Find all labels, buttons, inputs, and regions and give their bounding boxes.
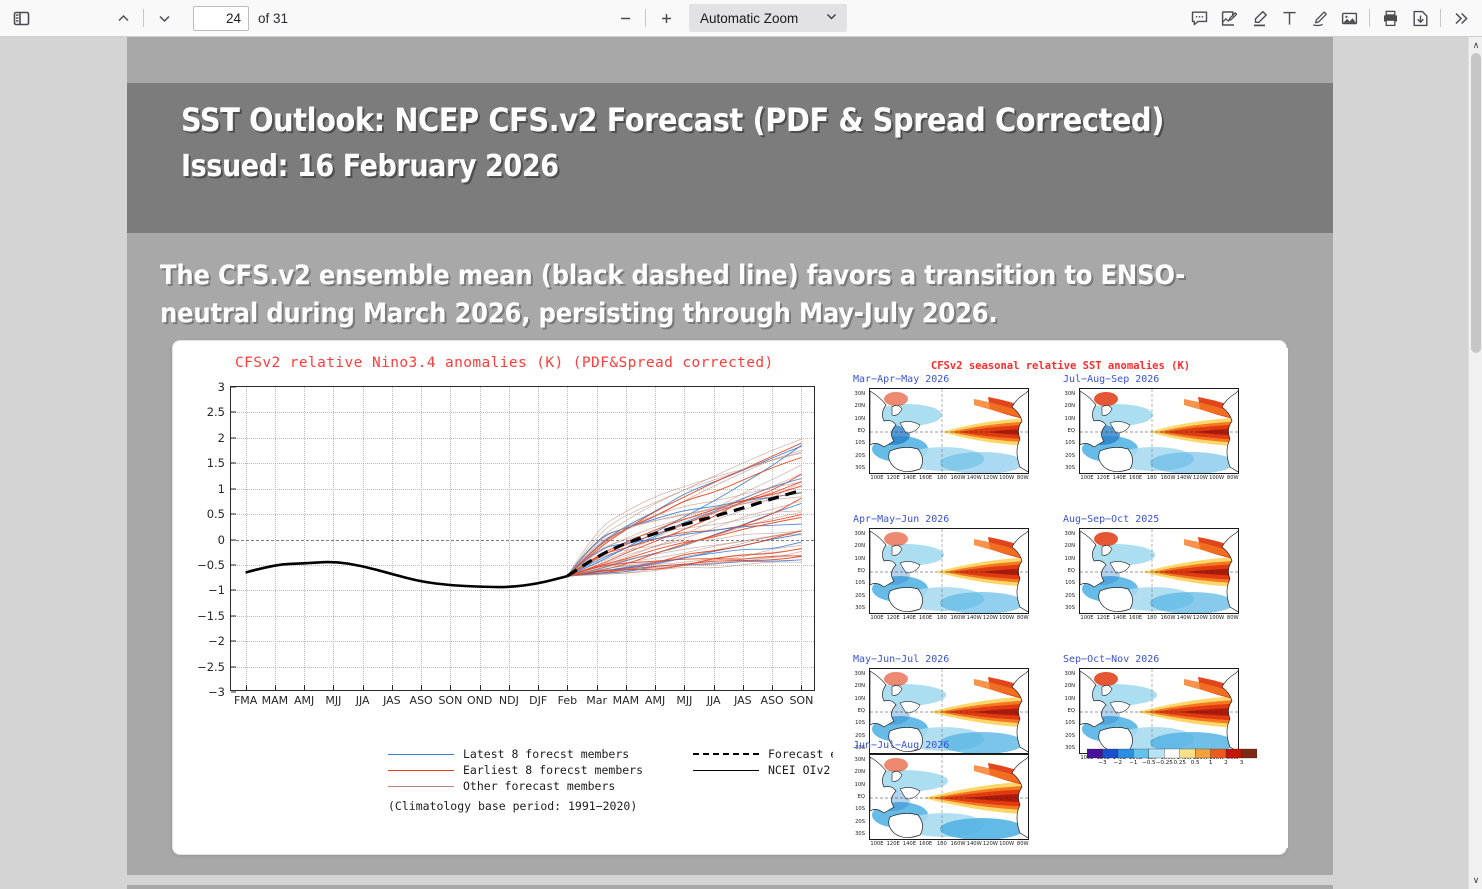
map-panel-caption: Apr−May−Jun 2026 [853, 514, 949, 525]
map-latitude-label: 10S [855, 806, 865, 812]
print-icon[interactable] [1375, 4, 1405, 32]
y-tick-label: 2.5 [207, 405, 225, 419]
x-tick-label: MAM [613, 694, 640, 707]
x-tick-label: MJJ [676, 694, 692, 707]
page-number-input[interactable] [193, 6, 249, 31]
slide-issue-date: Issued: 16 February 2026 [181, 149, 559, 184]
page-title: SST Outlook: NCEP CFS.v2 Forecast (PDF &… [181, 101, 1164, 139]
chevron-down-icon [825, 10, 838, 26]
map-longitude-label: 100W [999, 615, 1014, 621]
colorbar-gradient [1087, 748, 1257, 759]
save-icon[interactable] [1405, 4, 1435, 32]
map-longitude-label: 160W [950, 475, 965, 481]
map-latitude-label: 10N [1065, 416, 1075, 422]
map-latitude-label: 30S [855, 831, 865, 837]
scroll-up-arrow[interactable]: ∧ [1469, 38, 1482, 53]
x-tick-label: AMJ [645, 694, 665, 707]
y-tick-label: 3 [218, 380, 225, 394]
seasonal-sst-maps-panel: CFSv2 seasonal relative SST anomalies (K… [833, 348, 1288, 848]
colorbar-tick-label: −1 [1129, 760, 1137, 766]
legend-swatch [693, 770, 759, 771]
map-longitude-label: 160E [1129, 615, 1142, 621]
draw-edit-icon[interactable] [1214, 4, 1244, 32]
map-latitude-labels: 30N20N10NEQ10S20S30S [841, 388, 867, 474]
map-longitude-labels: 100E120E140E160E180160W140W120W100W80W [869, 475, 1029, 485]
map-longitude-label: 180 [937, 615, 947, 621]
sst-map-panel: Mar−Apr−May 202630N20N10NEQ10S20S30S100E… [841, 374, 1037, 492]
map-longitude-label: 140E [903, 615, 916, 621]
page-navigation: of 31 [108, 4, 288, 32]
colorbar-tick-label: 0.25 [1173, 760, 1185, 766]
map-panel-caption: Sep−Oct−Nov 2026 [1063, 654, 1159, 665]
map-latitude-label: 20N [855, 403, 865, 409]
pdf-page-25 [127, 885, 1333, 889]
map-longitude-label: 100E [1080, 615, 1093, 621]
map-longitude-label: 180 [937, 475, 947, 481]
map-latitude-label: 20N [855, 769, 865, 775]
viewer-scrollbar[interactable]: ∧ ∨ [1468, 37, 1482, 889]
map-longitude-label: 160W [1160, 475, 1175, 481]
map-panel-caption: Jun−Jul−Aug 2026 [853, 740, 949, 751]
map-latitude-label: 30N [855, 671, 865, 677]
scroll-down-arrow[interactable]: ∨ [1469, 873, 1482, 888]
map-latitude-label: 20N [855, 683, 865, 689]
zoom-level-select[interactable]: Automatic Zoom [689, 4, 847, 32]
x-tick-label: OND [467, 694, 492, 707]
y-tick-label: 0 [218, 533, 225, 547]
colorbar-segment [1118, 749, 1133, 758]
map-latitude-label: 30N [855, 391, 865, 397]
slide-header-band: SST Outlook: NCEP CFS.v2 Forecast (PDF &… [127, 83, 1333, 233]
colorbar-tick-label: −0.5 [1142, 760, 1156, 766]
x-tick-label: NDJ [499, 694, 519, 707]
map-longitude-label: 120W [1193, 615, 1208, 621]
map-latitude-label: 20S [855, 819, 865, 825]
text-icon[interactable] [1274, 4, 1304, 32]
map-longitude-label: 180 [1147, 615, 1157, 621]
nino34-anomaly-chart: CFSv2 relative Nino3.4 anomalies (K) (PD… [173, 341, 833, 856]
legend-item: Earliest 8 forecst members [388, 762, 643, 778]
chevron-up-icon[interactable] [108, 4, 138, 32]
colorbar-segment [1211, 749, 1226, 758]
map-latitude-label: 30S [1065, 465, 1075, 471]
colorbar-segment [1133, 749, 1148, 758]
colorbar-tick-label: 3 [1240, 760, 1244, 766]
map-longitude-label: 120W [983, 475, 998, 481]
comment-icon[interactable] [1184, 4, 1214, 32]
map-longitude-label: 160E [919, 615, 932, 621]
chevron-down-icon[interactable] [149, 4, 179, 32]
colorbar-tick-label: −0.25 [1156, 760, 1173, 766]
map-latitude-label: 20S [1065, 733, 1075, 739]
map-latitude-label: 30N [1065, 531, 1075, 537]
map-longitude-label: 120E [887, 841, 900, 847]
map-plot [869, 754, 1029, 840]
map-longitude-label: 160W [950, 841, 965, 847]
colorbar-segment [1242, 749, 1257, 758]
x-tick-label: AMJ [294, 694, 314, 707]
colorbar-segment [1149, 749, 1164, 758]
map-latitude-labels: 30N20N10NEQ10S20S30S [841, 528, 867, 614]
x-tick-label: Feb [558, 694, 577, 707]
chart-plot-area: 32.521.510.50−0.5−1−1.5−2−2.5−3 FMAMAMAM… [230, 386, 815, 691]
map-longitude-label: 80W [1017, 615, 1029, 621]
map-latitude-label: EQ [1068, 568, 1075, 574]
y-tick-label: −1 [208, 583, 225, 597]
map-longitude-label: 100E [1080, 475, 1093, 481]
map-longitude-label: 160W [1160, 615, 1175, 621]
map-longitude-label: 140W [967, 841, 982, 847]
map-latitude-label: 20S [1065, 593, 1075, 599]
map-longitude-label: 140E [1113, 615, 1126, 621]
colorbar-tick-label: 2 [1224, 760, 1228, 766]
y-tick-label: 1.5 [207, 456, 225, 470]
colorbar-segment [1102, 749, 1117, 758]
map-longitude-label: 140E [1113, 475, 1126, 481]
colorbar-segment [1195, 749, 1210, 758]
map-latitude-label: 10S [1065, 580, 1075, 586]
map-latitude-label: 10N [855, 416, 865, 422]
map-latitude-label: 10N [1065, 556, 1075, 562]
map-latitude-label: 30N [855, 531, 865, 537]
x-tick-label: ASO [761, 694, 784, 707]
x-tick-label: JAS [383, 694, 401, 707]
map-longitude-labels: 100E120E140E160E180160W140W120W100W80W [869, 841, 1029, 851]
legend-swatch [388, 770, 454, 771]
map-longitude-label: 120E [1097, 475, 1110, 481]
annotation-tools [1184, 4, 1476, 32]
x-tick-label: MAM [262, 694, 289, 707]
map-longitude-label: 100W [1209, 475, 1224, 481]
legend-swatch [693, 753, 759, 755]
map-latitude-label: EQ [858, 794, 865, 800]
colorbar-segment [1087, 749, 1102, 758]
y-tick-label: −2.5 [197, 660, 225, 674]
more-tools-icon[interactable] [1446, 4, 1476, 32]
legend-label: Other forecast members [463, 779, 615, 793]
map-latitude-label: 20S [855, 593, 865, 599]
pdf-page-24: SST Outlook: NCEP CFS.v2 Forecast (PDF &… [127, 37, 1333, 875]
map-longitude-label: 100W [1209, 615, 1224, 621]
map-plot [1079, 668, 1239, 754]
map-latitude-label: EQ [858, 568, 865, 574]
pdf-toolbar: of 31 Automatic Zoom [0, 0, 1482, 37]
chart-series-svg [231, 387, 816, 692]
map-latitude-label: 30S [855, 605, 865, 611]
legend-swatch [388, 754, 454, 755]
map-latitude-label: 10N [855, 696, 865, 702]
map-latitude-label: 20S [1065, 453, 1075, 459]
map-latitude-label: EQ [858, 708, 865, 714]
map-panel-caption: Aug−Sep−Oct 2025 [1063, 514, 1159, 525]
y-tick-label: −3 [208, 685, 225, 699]
map-longitude-labels: 100E120E140E160E180160W140W120W100W80W [1079, 615, 1239, 625]
sst-map-panel: Jun−Jul−Aug 202630N20N10NEQ10S20S30S100E… [841, 740, 1037, 858]
map-longitude-label: 120E [887, 475, 900, 481]
map-longitude-label: 120W [983, 615, 998, 621]
legend-swatch [388, 786, 454, 787]
y-tick-label: 2 [218, 431, 225, 445]
x-tick-label: SON [789, 694, 813, 707]
y-tick-label: −1.5 [197, 609, 225, 623]
scrollbar-thumb[interactable] [1471, 53, 1481, 353]
map-longitude-label: 100E [870, 841, 883, 847]
toolbar-divider [143, 9, 144, 27]
map-longitude-label: 120W [983, 841, 998, 847]
colorbar: −3−2−1−0.5−0.250.250.5123 [1073, 748, 1273, 782]
map-latitude-label: EQ [858, 428, 865, 434]
map-longitude-label: 80W [1227, 615, 1239, 621]
colorbar-segment [1226, 749, 1241, 758]
map-latitude-label: 20N [1065, 543, 1075, 549]
map-longitude-label: 160E [1129, 475, 1142, 481]
map-longitude-label: 160E [919, 475, 932, 481]
sst-map-panel: Apr−May−Jun 202630N20N10NEQ10S20S30S100E… [841, 514, 1037, 632]
map-latitude-label: 10S [1065, 720, 1075, 726]
map-latitude-label: 10N [1065, 696, 1075, 702]
map-latitude-label: EQ [1068, 708, 1075, 714]
chart-title: CFSv2 relative Nino3.4 anomalies (K) (PD… [235, 355, 774, 371]
sidebar-toggle-icon[interactable] [6, 4, 36, 32]
maps-panel-title: CFSv2 seasonal relative SST anomalies (K… [931, 360, 1190, 372]
colorbar-segment [1164, 749, 1179, 758]
map-panel-caption: Mar−Apr−May 2026 [853, 374, 949, 385]
chart-line [246, 562, 568, 587]
map-latitude-label: 10N [855, 782, 865, 788]
colorbar-tick-label: 0.5 [1191, 760, 1200, 766]
sst-map-panel: Jul−Aug−Sep 202630N20N10NEQ10S20S30S100E… [1051, 374, 1247, 492]
legend-item: Latest 8 forecst members [388, 746, 643, 762]
map-longitude-label: 80W [1227, 475, 1239, 481]
map-longitude-label: 140W [1177, 615, 1192, 621]
map-panel-caption: Jul−Aug−Sep 2026 [1063, 374, 1159, 385]
map-longitude-label: 80W [1017, 475, 1029, 481]
x-tick-label: MJJ [325, 694, 341, 707]
map-longitude-label: 140E [903, 475, 916, 481]
map-latitude-label: 10S [855, 440, 865, 446]
map-latitude-label: 10S [855, 720, 865, 726]
x-tick-label: JJA [707, 694, 721, 707]
map-latitude-labels: 30N20N10NEQ10S20S30S [1051, 388, 1077, 474]
map-latitude-label: 30S [1065, 605, 1075, 611]
climatology-note: (Climatology base period: 1991−2020) [388, 799, 637, 813]
map-longitude-label: 140W [967, 615, 982, 621]
map-longitude-label: 140W [1177, 475, 1192, 481]
x-tick-label: DJF [529, 694, 547, 707]
pdf-viewer[interactable]: SST Outlook: NCEP CFS.v2 Forecast (PDF &… [0, 37, 1468, 889]
signature-icon[interactable] [1304, 4, 1334, 32]
map-longitude-label: 120E [1097, 615, 1110, 621]
map-latitude-label: 30N [1065, 671, 1075, 677]
map-longitude-labels: 100E120E140E160E180160W140W120W100W80W [869, 615, 1029, 625]
map-longitude-label: 100E [870, 475, 883, 481]
y-tick-label: −0.5 [197, 558, 225, 572]
map-latitude-label: 10N [855, 556, 865, 562]
map-plot [1079, 528, 1239, 614]
map-latitude-label: 20S [855, 733, 865, 739]
map-latitude-labels: 30N20N10NEQ10S20S30S [841, 754, 867, 840]
toolbar-divider [1369, 9, 1370, 27]
map-longitude-label: 160W [950, 615, 965, 621]
figure-card: CFSv2 relative Nino3.4 anomalies (K) (PD… [172, 340, 1287, 855]
y-tick-label: −2 [208, 634, 225, 648]
map-longitude-label: 160E [919, 841, 932, 847]
x-tick-label: Mar [586, 694, 607, 707]
x-tick-label: JAS [734, 694, 752, 707]
map-longitude-label: 140W [967, 475, 982, 481]
map-longitude-label: 180 [937, 841, 947, 847]
map-latitude-label: 30N [1065, 391, 1075, 397]
map-longitude-labels: 100E120E140E160E180160W140W120W100W80W [1079, 475, 1239, 485]
colorbar-tick-label: 1 [1209, 760, 1213, 766]
y-tick-label: 0.5 [207, 507, 225, 521]
zoom-controls: Automatic Zoom [610, 4, 847, 32]
x-tick-label: JJA [356, 694, 370, 707]
map-latitude-label: 20N [1065, 403, 1075, 409]
x-tick-label: FMA [234, 694, 257, 707]
map-latitude-labels: 30N20N10NEQ10S20S30S [1051, 528, 1077, 614]
map-longitude-label: 120W [1193, 475, 1208, 481]
toolbar-divider [645, 9, 646, 27]
colorbar-tick-label: −3 [1098, 760, 1106, 766]
map-latitude-label: 10S [855, 580, 865, 586]
zoom-level-label: Automatic Zoom [700, 11, 798, 26]
map-longitude-label: 120E [887, 615, 900, 621]
map-longitude-label: 100W [999, 475, 1014, 481]
page-count-label: of 31 [258, 11, 288, 26]
sst-map-panel: Aug−Sep−Oct 202530N20N10NEQ10S20S30S100E… [1051, 514, 1247, 632]
legend-column-left: Latest 8 forecst membersEarliest 8 forec… [388, 746, 643, 794]
map-longitude-label: 100E [870, 615, 883, 621]
legend-item: Other forecast members [388, 778, 643, 794]
map-panel-caption: May−Jun−Jul 2026 [853, 654, 949, 665]
map-longitude-label: 80W [1017, 841, 1029, 847]
image-icon[interactable] [1334, 4, 1364, 32]
map-plot [1079, 388, 1239, 474]
map-latitude-label: EQ [1068, 428, 1075, 434]
map-plot [869, 388, 1029, 474]
slide-body-text: The CFS.v2 ensemble mean (black dashed l… [160, 257, 1270, 333]
map-latitude-label: 20N [855, 543, 865, 549]
colorbar-segment [1180, 749, 1195, 758]
map-latitude-label: 20S [855, 453, 865, 459]
map-plot [869, 528, 1029, 614]
map-latitude-label: 30S [855, 465, 865, 471]
map-latitude-label: 10S [1065, 440, 1075, 446]
map-latitude-label: 20N [1065, 683, 1075, 689]
x-tick-label: ASO [410, 694, 433, 707]
map-longitude-label: 140E [903, 841, 916, 847]
map-latitude-label: 30N [855, 757, 865, 763]
map-latitude-labels: 30N20N10NEQ10S20S30S [1051, 668, 1077, 754]
colorbar-tick-label: −2 [1114, 760, 1122, 766]
zoom-in-button[interactable] [651, 4, 681, 32]
toolbar-divider [1440, 9, 1441, 27]
zoom-out-button[interactable] [610, 4, 640, 32]
map-longitude-label: 100W [999, 841, 1014, 847]
map-longitude-label: 180 [1147, 475, 1157, 481]
highlighter-icon[interactable] [1244, 4, 1274, 32]
legend-label: Earliest 8 forecst members [463, 763, 643, 777]
x-tick-label: SON [438, 694, 462, 707]
legend-label: Latest 8 forecst members [463, 747, 629, 761]
y-tick-label: 1 [218, 482, 225, 496]
